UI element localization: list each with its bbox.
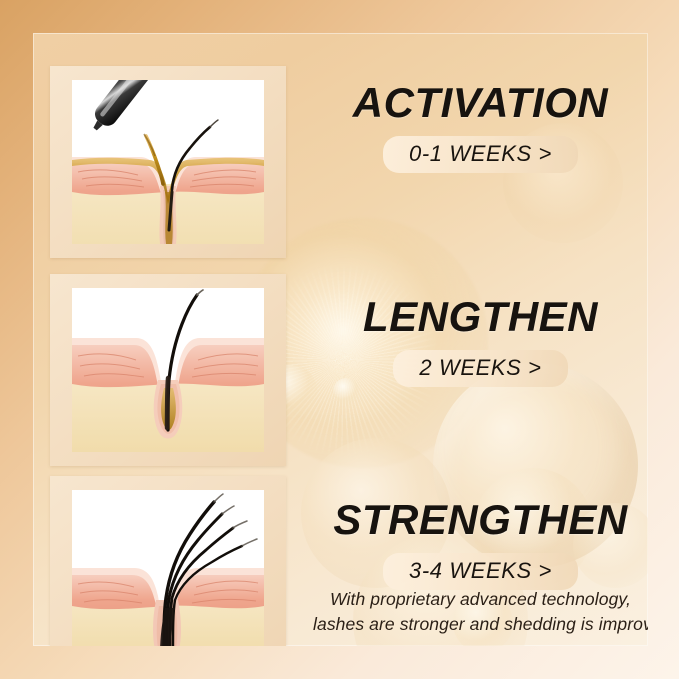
tagline-line-2: lashes are stronger and shedding is impr… [313,612,648,637]
illustration-card-strengthen [50,476,286,646]
tagline-line-1: With proprietary advanced technology, [313,587,648,612]
poster-inner-panel: ACTIVATION 0-1 WEEKS > LENGTHEN 2 WEEKS … [33,33,648,646]
step-badge-lengthen[interactable]: 2 WEEKS > [393,350,567,388]
illustration-card-activation [50,66,286,258]
illustration-card-lengthen [50,274,286,466]
tagline: With proprietary advanced technology, la… [313,587,648,638]
step-title-strengthen: STRENGTHEN [313,498,648,542]
step-title-activation: ACTIVATION [313,81,648,125]
step-text-column: ACTIVATION 0-1 WEEKS > LENGTHEN 2 WEEKS … [313,33,648,646]
multiple-thick-lashes-icon [72,490,264,646]
step-strengthen: STRENGTHEN 3-4 WEEKS > With proprietary … [313,498,648,590]
step-title-lengthen: LENGTHEN [313,295,648,339]
step-badge-activation[interactable]: 0-1 WEEKS > [383,136,578,174]
step-lengthen: LENGTHEN 2 WEEKS > [313,295,648,387]
single-lengthened-lash-icon [72,288,264,452]
step-activation: ACTIVATION 0-1 WEEKS > [313,81,648,173]
follicle-applicator-illustration [72,80,264,244]
serum-applicator-on-follicle-icon [72,80,264,244]
step-badge-strengthen[interactable]: 3-4 WEEKS > [383,553,578,591]
product-infographic-poster: ACTIVATION 0-1 WEEKS > LENGTHEN 2 WEEKS … [0,0,679,679]
single-lash-illustration [72,288,264,452]
multiple-lashes-illustration [72,490,264,646]
illustration-card-column [50,35,302,646]
